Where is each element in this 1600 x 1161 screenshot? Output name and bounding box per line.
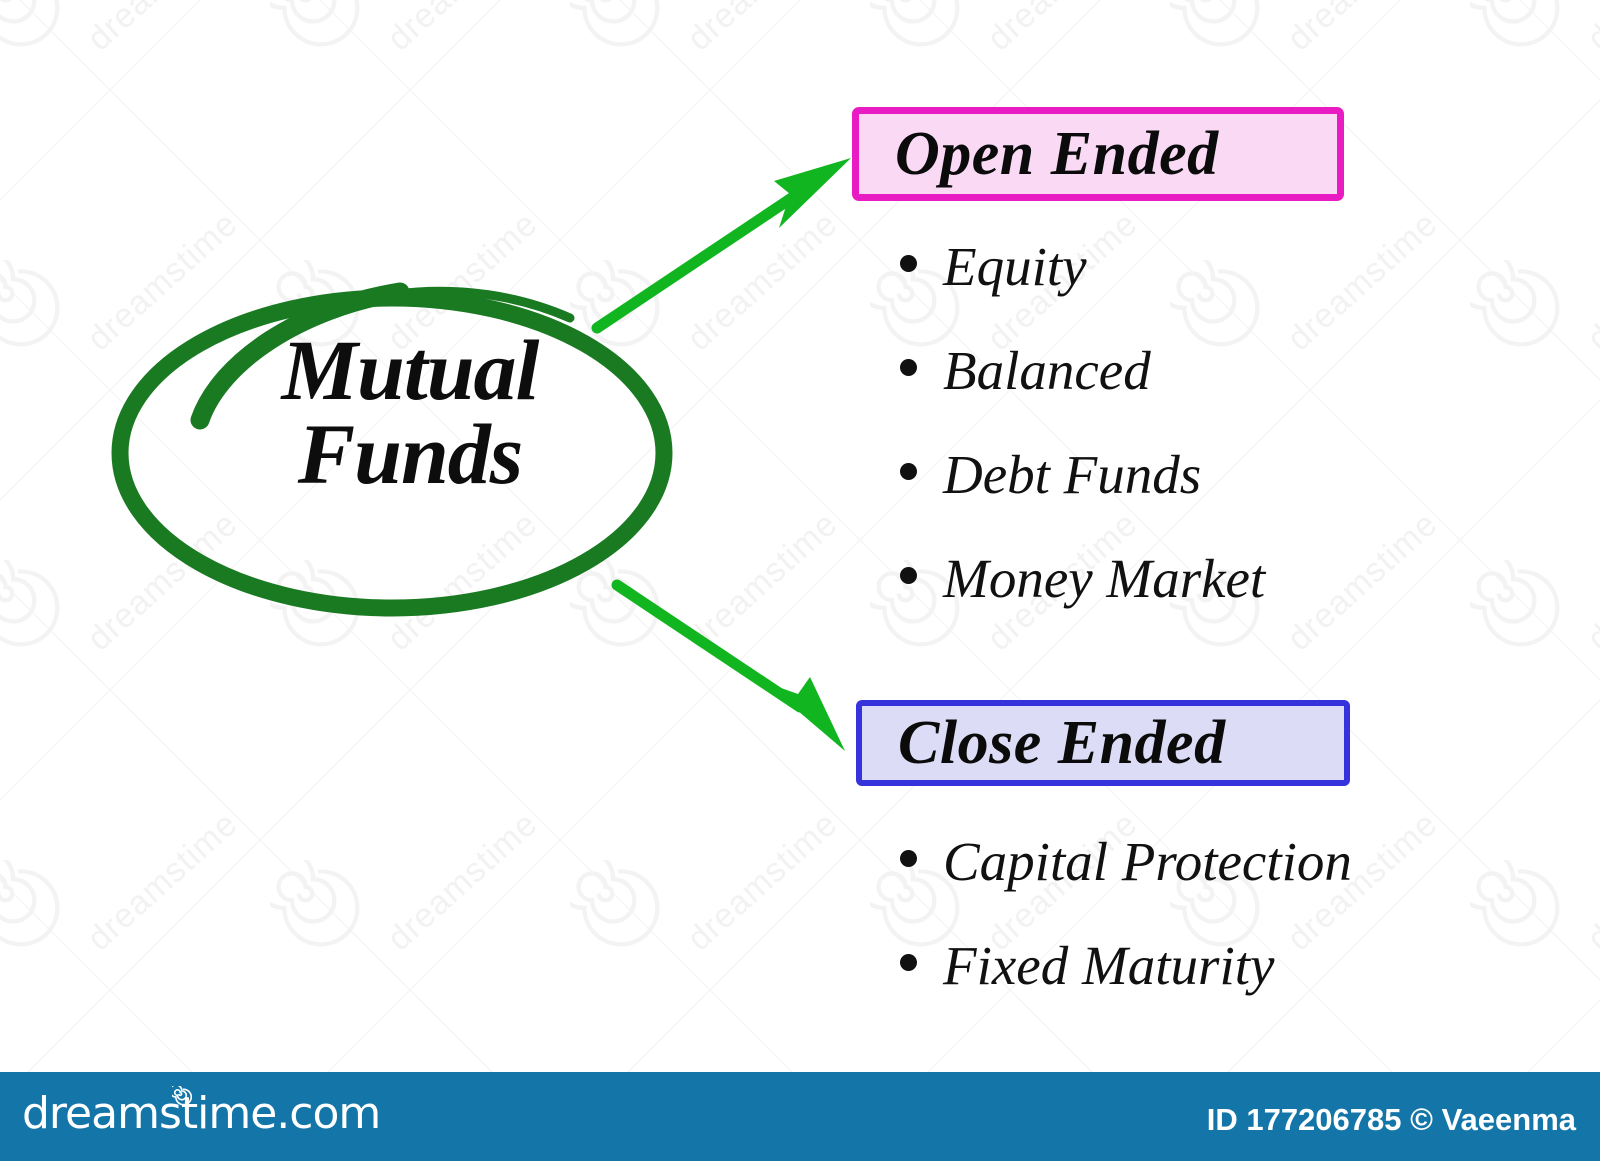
- spiral-icon: [270, 0, 366, 56]
- list-item: Capital Protection: [900, 830, 1352, 934]
- bullet-dot-icon: [900, 567, 917, 584]
- spiral-icon: [1470, 560, 1566, 656]
- watermark-text: dreamstime: [1580, 204, 1600, 359]
- watermark-grid-icon: [1460, 540, 1600, 840]
- watermark-text: dreamstime: [1280, 204, 1446, 359]
- bullet-dot-icon: [900, 359, 917, 376]
- watermark-text: dreamstime: [80, 804, 246, 959]
- spiral-icon: [0, 0, 66, 56]
- watermark-grid-icon: [560, 0, 860, 240]
- spiral-icon: [570, 0, 666, 56]
- central-node-label-line1: Mutual: [282, 322, 539, 418]
- bullet-list-open-ended: Equity Balanced Debt Funds Money Market: [900, 235, 1265, 651]
- watermark-text: dreamstime: [380, 804, 546, 959]
- list-item-label: Capital Protection: [943, 830, 1352, 893]
- category-title-open-ended: Open Ended: [895, 119, 1219, 190]
- list-item-label: Debt Funds: [943, 443, 1201, 506]
- list-item-label: Money Market: [943, 547, 1265, 610]
- spiral-icon: [1470, 260, 1566, 356]
- bullet-dot-icon: [900, 463, 917, 480]
- list-item-label: Fixed Maturity: [943, 934, 1274, 997]
- bullet-list-close-ended: Capital Protection Fixed Maturity: [900, 830, 1352, 1038]
- list-item: Money Market: [900, 547, 1265, 651]
- list-item-label: Balanced: [943, 339, 1151, 402]
- spiral-icon: [270, 860, 366, 956]
- watermark-grid-icon: [1460, 0, 1600, 240]
- list-item: Equity: [900, 235, 1265, 339]
- watermark-text: dreamstime: [1580, 504, 1600, 659]
- watermark-tile: dreamstime: [1460, 540, 1600, 840]
- list-item-label: Equity: [943, 235, 1087, 298]
- spiral-icon: [1470, 860, 1566, 956]
- watermark-grid-icon: [1460, 240, 1600, 540]
- watermark-text: dreamstime: [1580, 804, 1600, 959]
- watermark-text: dreamstime: [80, 0, 246, 59]
- watermark-text: dreamstime: [680, 0, 846, 59]
- list-item: Balanced: [900, 339, 1265, 443]
- spiral-icon: [1170, 0, 1266, 56]
- spiral-icon: [0, 260, 66, 356]
- spiral-icon: [0, 560, 66, 656]
- central-node: Mutual Funds: [100, 270, 720, 640]
- watermark-tile: dreamstime: [1460, 240, 1600, 540]
- watermark-grid-icon: [0, 0, 260, 240]
- watermark-tile: dreamstime: [0, 0, 260, 240]
- watermark-tile: dreamstime: [560, 0, 860, 240]
- watermark-text: dreamstime: [1280, 504, 1446, 659]
- list-item: Debt Funds: [900, 443, 1265, 547]
- spiral-icon: [570, 860, 666, 956]
- bullet-dot-icon: [900, 850, 917, 867]
- bullet-dot-icon: [900, 255, 917, 272]
- diagram-canvas: dreamstimedreamstimedreamstimedreamstime…: [0, 0, 1600, 1161]
- spiral-icon: [172, 1086, 194, 1108]
- category-box-close-ended[interactable]: Close Ended: [856, 700, 1350, 786]
- spiral-icon: [870, 0, 966, 56]
- dreamstime-logo[interactable]: dreamstime.com: [22, 1088, 380, 1139]
- central-node-label: Mutual Funds: [100, 328, 720, 497]
- category-box-open-ended[interactable]: Open Ended: [852, 107, 1344, 201]
- watermark-tile: dreamstime: [1460, 0, 1600, 240]
- watermark-tile: dreamstime: [260, 0, 560, 240]
- watermark-text: dreamstime: [680, 804, 846, 959]
- watermark-text: dreamstime: [980, 0, 1146, 59]
- watermark-text: dreamstime: [1280, 0, 1446, 59]
- bullet-dot-icon: [900, 954, 917, 971]
- watermark-text: dreamstime: [380, 0, 546, 59]
- watermark-text: dreamstime: [1580, 0, 1600, 59]
- watermark-grid-icon: [260, 0, 560, 240]
- footer-watermark-band: dreamstime.com ID 177206785 © Vaeenma: [0, 1072, 1600, 1161]
- dreamstime-logo-text: dreamstime.com: [22, 1088, 380, 1139]
- category-title-close-ended: Close Ended: [898, 708, 1226, 779]
- image-credit: ID 177206785 © Vaeenma: [1207, 1102, 1576, 1138]
- spiral-icon: [0, 860, 66, 956]
- spiral-icon: [1470, 0, 1566, 56]
- list-item: Fixed Maturity: [900, 934, 1352, 1038]
- central-node-label-line2: Funds: [100, 412, 720, 496]
